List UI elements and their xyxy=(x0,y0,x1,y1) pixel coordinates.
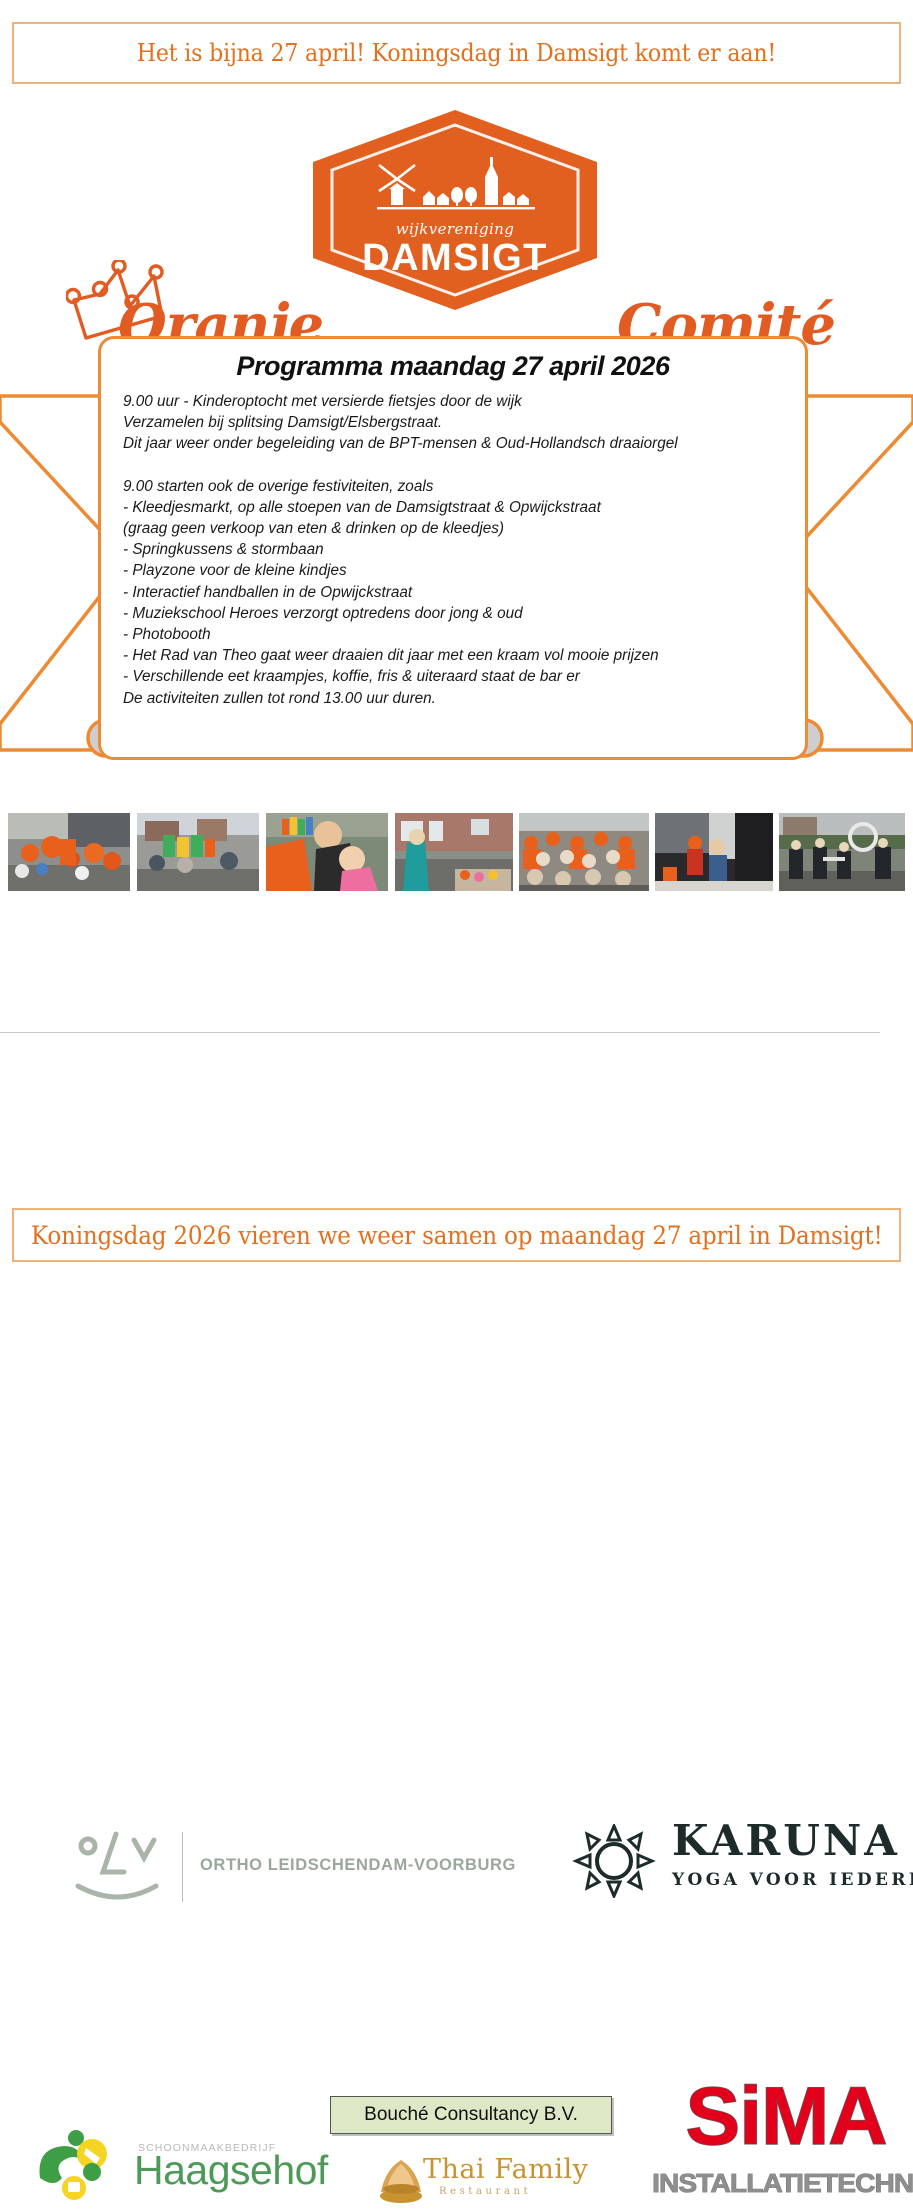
sponsor-name-karuna: KARUNA xyxy=(672,1818,900,1863)
programme-line: - Muziekschool Heroes verzorgt optredens… xyxy=(123,603,783,624)
oranje-comite-logo-band: Oranje xyxy=(0,100,913,320)
photo-optreden-podium xyxy=(655,813,773,891)
programme-line: Dit jaar weer onder begeleiding van de B… xyxy=(123,433,783,454)
programme-card: Programma maandag 27 april 2026 9.00 uur… xyxy=(98,336,808,760)
damsigt-badge: wijkvereniging DAMSIGT xyxy=(313,110,597,310)
badge-subtitle: wijkvereniging xyxy=(396,220,515,238)
sponsor-name-haagsehof: Haagsehof xyxy=(134,2150,328,2191)
footer-banner-text: Koningsdag 2026 vieren we weer samen op … xyxy=(31,1221,883,1250)
cleaning-swirl-icon xyxy=(30,2128,130,2202)
header-banner: Het is bijna 27 april! Koningsdag in Dam… xyxy=(12,22,901,84)
header-banner-text: Het is bijna 27 april! Koningsdag in Dam… xyxy=(137,39,776,67)
sponsor-name-thai: Thai Family xyxy=(423,2156,588,2183)
programme-line: 9.00 starten ook de overige festiviteite… xyxy=(123,476,783,497)
badge-name: DAMSIGT xyxy=(362,239,548,277)
sponsor-row-primary: ORTHO LEIDSCHENDAM-VOORBURG KA xyxy=(0,900,913,1025)
sponsor-haagsehof[interactable]: SCHOONMAAKBEDRIJF Haagsehof xyxy=(30,2124,330,2204)
photo-kleedjesmarkt xyxy=(395,813,513,891)
photo-groepsfoto-oranje xyxy=(519,813,649,891)
sponsor-name-bousche: Bouché Consultancy B.V. xyxy=(364,2104,578,2126)
sponsor-ortho-leidschendam-voorburg[interactable]: ORTHO LEIDSCHENDAM-VOORBURG xyxy=(72,1828,492,1904)
sponsor-sima-installatietechniek[interactable]: SiMA INSTALLATIETECHNIEK xyxy=(662,2076,910,2208)
programme-line: - Kleedjesmarkt, op alle stoepen van de … xyxy=(123,497,783,518)
programme-line: Verzamelen bij splitsing Damsigt/Elsberg… xyxy=(123,412,783,433)
olv-smiley-icon xyxy=(72,1828,164,1904)
photo-schminken-kind xyxy=(266,813,388,891)
photo-muziekkorps xyxy=(779,813,905,891)
programme-title: Programma maandag 27 april 2026 xyxy=(123,351,783,382)
sponsor-name-ortho: ORTHO LEIDSCHENDAM-VOORBURG xyxy=(200,1856,516,1875)
programme-line: - Photobooth xyxy=(123,624,783,645)
programme-line: (graag geen verkoop van eten & drinken o… xyxy=(123,518,783,539)
programme-line: - Het Rad van Theo gaat weer draaien dit… xyxy=(123,645,783,666)
footer-banner: Koningsdag 2026 vieren we weer samen op … xyxy=(12,1208,901,1262)
sponsor-row-secondary: SCHOONMAAKBEDRIJF Haagsehof Bouché Consu… xyxy=(0,1036,913,1201)
sponsor-thai-family-restaurant[interactable]: Thai Family Restaurant xyxy=(375,2154,575,2210)
event-photo-strip xyxy=(0,813,913,891)
photo-ballonnen-straat xyxy=(137,813,259,891)
olv-divider xyxy=(182,1832,183,1902)
programme-line: 9.00 uur - Kinderoptocht met versierde f… xyxy=(123,391,783,412)
programme-line: De activiteiten zullen tot rond 13.00 uu… xyxy=(123,688,783,709)
programme-line: - Interactief handballen in de Opwijckst… xyxy=(123,582,783,603)
programme-line: - Playzone voor de kleine kindjes xyxy=(123,560,783,581)
sponsor-karuna[interactable]: KARUNA YOGA VOOR IEDEREEN xyxy=(572,1818,902,1902)
programme-line: - Verschillende eet kraampjes, koffie, f… xyxy=(123,666,783,687)
programme-line-spacer xyxy=(123,455,783,476)
sun-icon xyxy=(572,1824,656,1898)
sponsor-section-divider xyxy=(0,1032,880,1033)
programme-line: - Springkussens & stormbaan xyxy=(123,539,783,560)
photo-optocht-kinderen-fietsen xyxy=(8,813,130,891)
skyline-icon xyxy=(365,157,545,218)
badge-content: wijkvereniging DAMSIGT xyxy=(313,110,597,310)
sponsor-tagline-thai: Restaurant xyxy=(439,2186,531,2197)
thai-bowl-icon xyxy=(375,2156,427,2206)
sponsor-name-sima: SiMA xyxy=(662,2076,910,2158)
sponsor-tagline-sima: INSTALLATIETECHNIEK xyxy=(652,2168,913,2199)
sponsor-tagline-karuna: YOGA VOOR IEDEREEN xyxy=(672,1870,913,1890)
sponsor-bousche-consultancy[interactable]: Bouché Consultancy B.V. xyxy=(330,2096,612,2134)
